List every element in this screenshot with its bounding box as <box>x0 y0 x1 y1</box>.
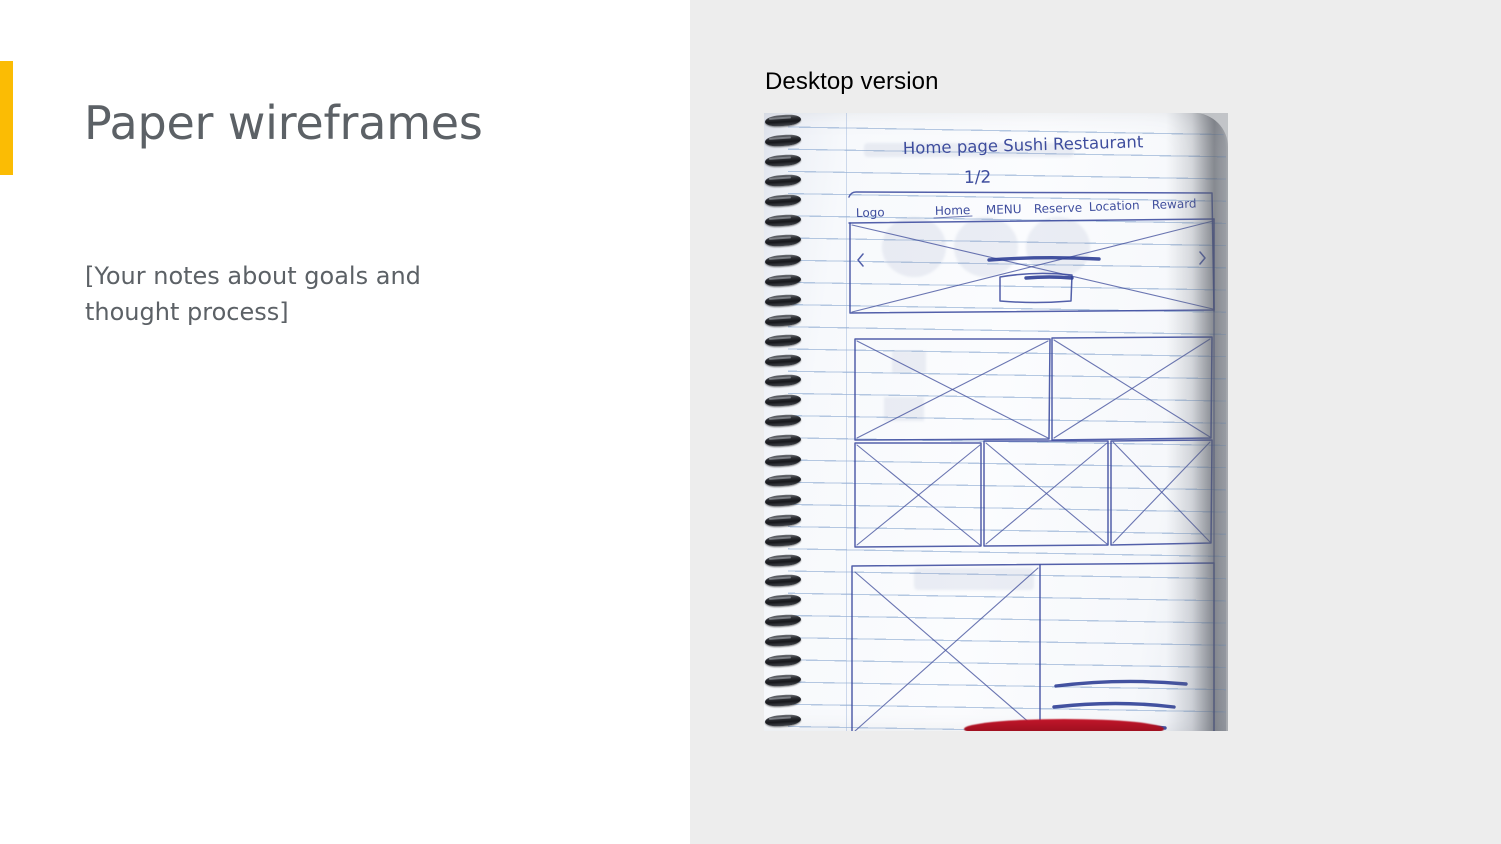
feature-right-cross-2 <box>1054 340 1210 437</box>
binding-coil <box>765 274 801 288</box>
binding-coil <box>765 314 801 328</box>
sketch-title-line1: Home page Sushi Restaurant <box>903 132 1145 158</box>
binding-coil <box>765 714 801 728</box>
wireframe-photo: Home page Sushi Restaurant 1/2 Logo Home… <box>764 113 1228 731</box>
wireframe-sketch: Home page Sushi Restaurant 1/2 Logo Home… <box>764 113 1226 731</box>
nav-label-logo: Logo <box>856 205 885 220</box>
nav-label-home: Home <box>935 203 971 218</box>
binding-coil <box>765 434 801 448</box>
binding-coil <box>765 354 801 368</box>
binding-coil <box>765 254 801 268</box>
spiral-binding <box>764 113 804 731</box>
binding-coil <box>765 634 801 648</box>
binding-coil <box>765 294 801 308</box>
binding-coil <box>765 574 801 588</box>
binding-coil <box>765 554 801 568</box>
nav-label-reward: Reward <box>1152 196 1197 212</box>
hero-cross-2 <box>852 225 1213 309</box>
binding-coil <box>765 654 801 668</box>
nav-label-location: Location <box>1089 198 1140 214</box>
binding-coil <box>765 674 801 688</box>
binding-coil <box>765 694 801 708</box>
about-text-line-2 <box>1054 704 1174 708</box>
binding-coil <box>765 374 801 388</box>
binding-coil <box>765 174 801 188</box>
binding-coil <box>765 154 801 168</box>
binding-coil <box>765 454 801 468</box>
binding-coil <box>765 214 801 228</box>
binding-coil <box>765 394 801 408</box>
hero-cta-button-highlight <box>1026 277 1072 278</box>
binding-coil <box>765 334 801 348</box>
binding-coil <box>765 414 801 428</box>
hero-headline-bar <box>989 258 1099 260</box>
right-image-panel: Desktop version Home page Sushi Restaura… <box>690 0 1501 844</box>
binding-coil <box>765 614 801 628</box>
binding-coil <box>765 194 801 208</box>
sketch-title-line2: 1/2 <box>964 168 992 188</box>
title-accent-bar <box>0 61 13 175</box>
panel-heading: Desktop version <box>765 68 939 96</box>
binding-coil <box>765 514 801 528</box>
nav-bar-bottom <box>849 219 1214 223</box>
slide-canvas: Paper wireframes [Your notes about goals… <box>0 0 1501 844</box>
carousel-prev-arrow-icon <box>858 254 863 266</box>
binding-coil <box>765 114 801 128</box>
nav-label-reserve: Reserve <box>1034 201 1083 216</box>
binding-coil <box>765 234 801 248</box>
page-title: Paper wireframes <box>84 96 644 150</box>
binding-coil <box>765 494 801 508</box>
about-text-line-1 <box>1056 681 1186 686</box>
left-content-column: Paper wireframes [Your notes about goals… <box>0 0 690 844</box>
binding-coil <box>765 534 801 548</box>
notes-placeholder-text: [Your notes about goals and thought proc… <box>85 259 505 330</box>
nav-label-menu: MENU <box>986 202 1022 217</box>
carousel-next-arrow-icon <box>1200 252 1205 264</box>
binding-coil <box>765 594 801 608</box>
binding-coil <box>765 134 801 148</box>
binding-coil <box>765 474 801 488</box>
